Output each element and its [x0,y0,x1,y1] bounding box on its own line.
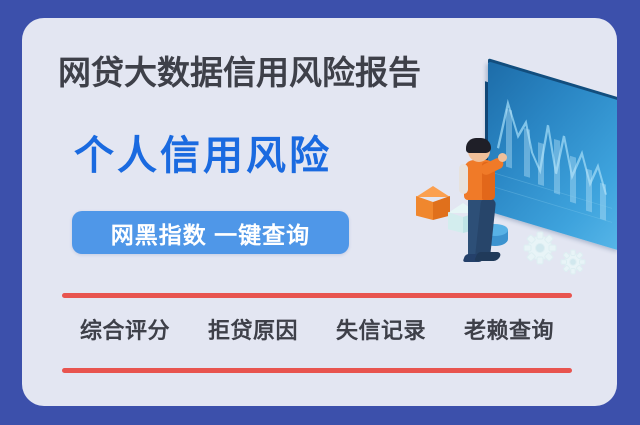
headline: 网贷大数据信用风险报告 [58,56,421,89]
footer-item-reject-reason[interactable]: 拒贷原因 [208,313,298,345]
query-cta-label: 网黑指数 一键查询 [111,216,310,250]
isometric-illustration [400,58,617,288]
orange-cube [416,186,450,220]
footer-feature-row: 综合评分 拒贷原因 失信记录 老赖查询 [62,313,572,345]
gears-icon [518,226,598,281]
promo-banner: 网贷大数据信用风险报告 个人信用风险 网黑指数 一键查询 综合评分 拒贷原因 失… [0,0,640,425]
content-panel: 网贷大数据信用风险报告 个人信用风险 网黑指数 一键查询 综合评分 拒贷原因 失… [22,18,617,406]
subheadline: 个人信用风险 [74,136,332,176]
divider-top [62,293,572,298]
divider-bottom [62,368,572,373]
footer-item-dishonesty-record[interactable]: 失信记录 [336,313,426,345]
footer-item-defaulter-query[interactable]: 老赖查询 [464,313,554,345]
query-cta-button[interactable]: 网黑指数 一键查询 [72,211,349,254]
analyst-figure [456,140,512,268]
footer-item-score[interactable]: 综合评分 [80,313,170,345]
